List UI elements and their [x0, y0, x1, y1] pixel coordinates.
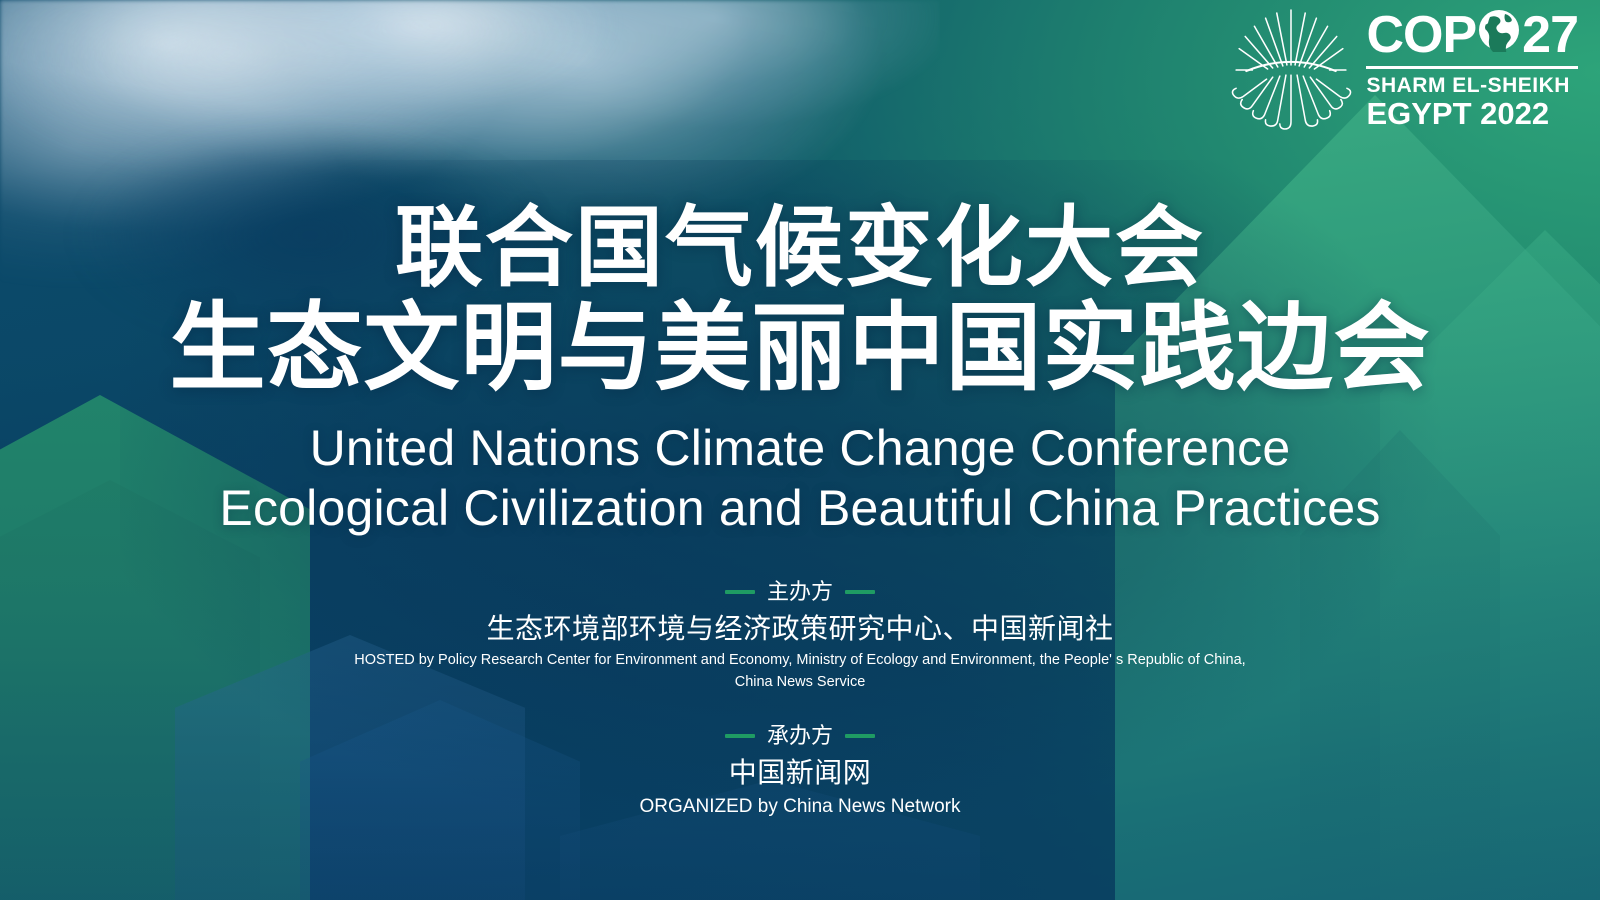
- organizer-name-english: ORGANIZED by China News Network: [0, 794, 1600, 819]
- dash-right-icon: [845, 590, 875, 594]
- host-name-english-line1: HOSTED by Policy Research Center for Env…: [0, 651, 1600, 670]
- subtitle-english: United Nations Climate Change Conference…: [0, 418, 1600, 538]
- title-chinese-line1: 联合国气候变化大会: [395, 196, 1205, 299]
- subtitle-english-line1: United Nations Climate Change Conference: [0, 418, 1600, 478]
- host-label-row: 主办方: [0, 578, 1600, 606]
- title-chinese: 联合国气候变化大会 生态文明与美丽中国实践边会: [0, 198, 1600, 398]
- dash-left-icon: [725, 590, 755, 594]
- title-chinese-line2: 生态文明与美丽中国实践边会: [0, 298, 1600, 398]
- host-label: 主办方: [767, 578, 833, 606]
- organizer-label-row: 承办方: [0, 722, 1600, 750]
- conference-poster: COP 27 SHARM EL-SHEIKH EGYPT 2022: [0, 0, 1600, 900]
- dash-right-icon: [845, 734, 875, 738]
- organizer-name-chinese: 中国新闻网: [0, 754, 1600, 792]
- credits-block: 主办方 生态环境部环境与经济政策研究中心、中国新闻社 HOSTED by Pol…: [0, 578, 1600, 819]
- host-name-chinese: 生态环境部环境与经济政策研究中心、中国新闻社: [0, 610, 1600, 648]
- dash-left-icon: [725, 734, 755, 738]
- host-name-english-line2: China News Service: [0, 673, 1600, 692]
- organizer-label: 承办方: [767, 722, 833, 750]
- poster-content: 联合国气候变化大会 生态文明与美丽中国实践边会 United Nations C…: [0, 0, 1600, 900]
- host-credit: 主办方 生态环境部环境与经济政策研究中心、中国新闻社 HOSTED by Pol…: [0, 578, 1600, 692]
- subtitle-english-line2: Ecological Civilization and Beautiful Ch…: [0, 478, 1600, 538]
- organizer-credit: 承办方 中国新闻网 ORGANIZED by China News Networ…: [0, 722, 1600, 819]
